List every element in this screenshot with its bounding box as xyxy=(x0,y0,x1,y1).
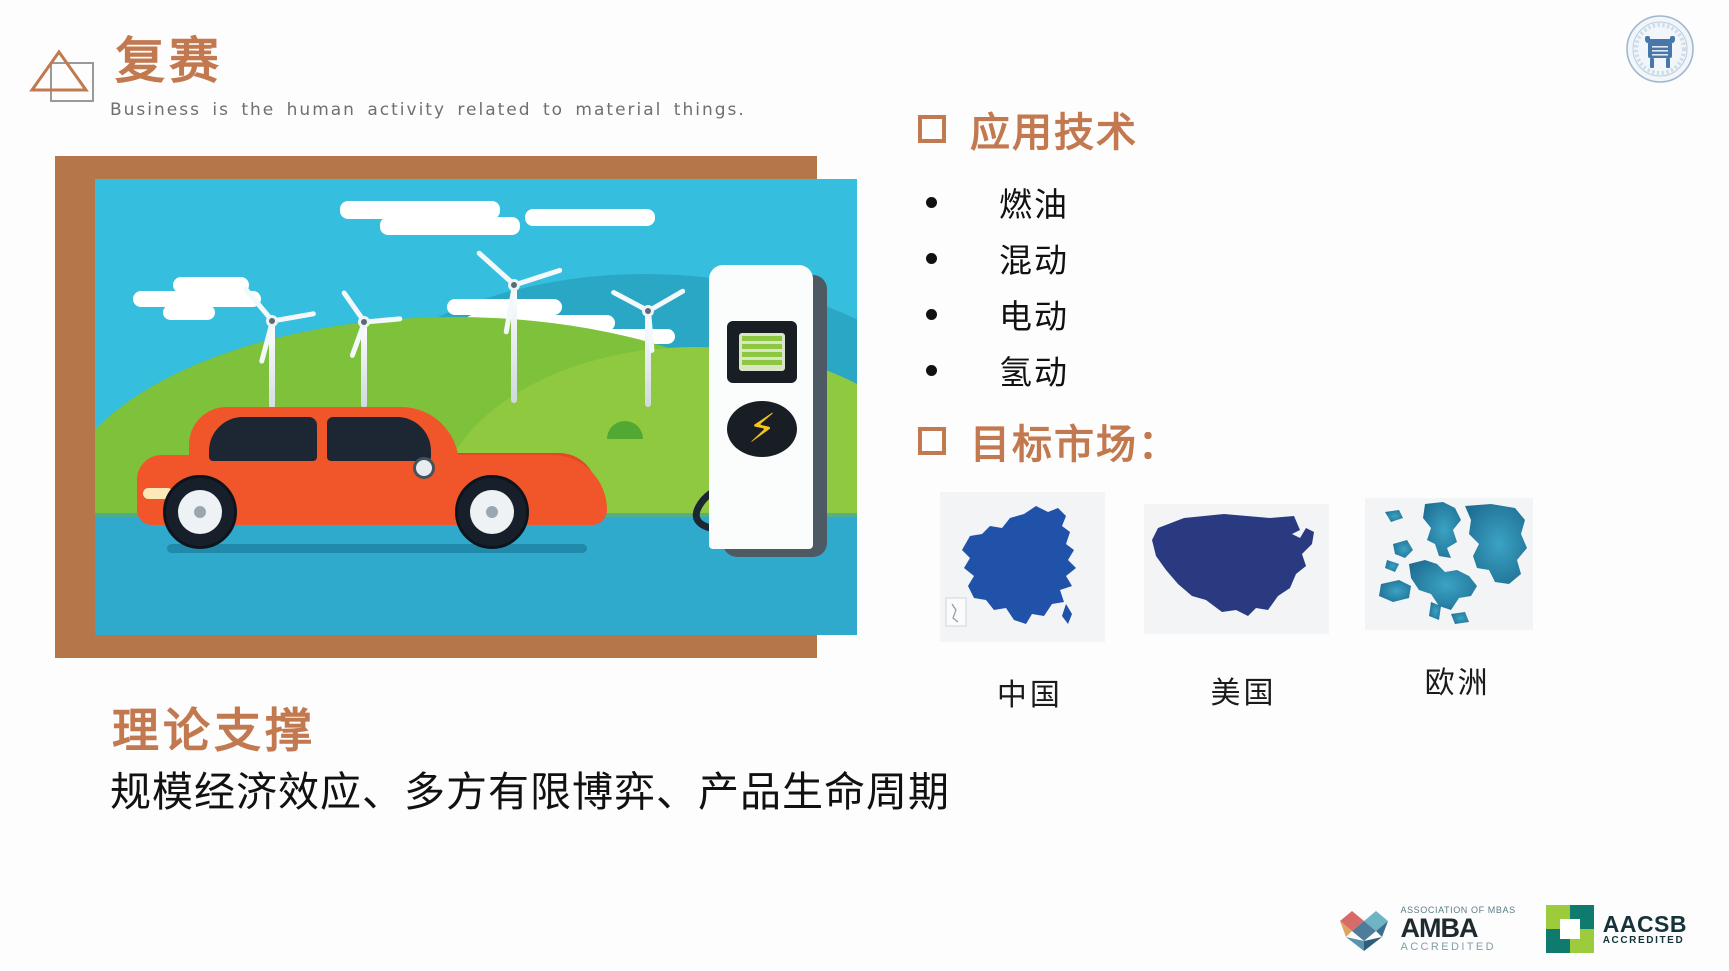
map-card-china: 中国 xyxy=(940,492,1120,712)
bullet-dot-icon xyxy=(926,253,937,264)
section-header: 目标市场： xyxy=(918,412,1180,470)
amba-diamond-icon xyxy=(1334,905,1394,953)
cloud-icon xyxy=(525,209,655,226)
wind-turbine-icon xyxy=(477,263,551,403)
map-label: 中国 xyxy=(940,670,1120,714)
theory-title: 理论支撑 xyxy=(112,692,316,761)
aacsb-text: AACSB ACCREDITED xyxy=(1603,912,1687,947)
map-label: 欧洲 xyxy=(1365,658,1550,702)
ev-charging-illustration: ⚡ xyxy=(95,179,857,635)
aacsb-square-icon xyxy=(1546,905,1594,953)
map-card-europe: 欧洲 xyxy=(1365,492,1550,712)
triangle-outline-icon xyxy=(28,48,90,94)
bullet-dot-icon xyxy=(926,197,937,208)
section-applied-technology: 应用技术 燃油 混动 电动 氢动 xyxy=(918,100,1138,398)
section-target-market: 目标市场： xyxy=(918,412,1180,470)
list-item-label: 燃油 xyxy=(999,178,1069,226)
square-outline-marker-icon xyxy=(918,427,946,455)
battery-level-icon xyxy=(739,333,785,371)
section-title: 应用技术 xyxy=(970,100,1138,158)
map-label: 美国 xyxy=(1144,668,1344,712)
electric-car-icon xyxy=(137,393,607,553)
square-outline-marker-icon xyxy=(918,115,946,143)
aacsb-logo: AACSB ACCREDITED xyxy=(1546,905,1687,953)
charging-station-icon: ⚡ xyxy=(709,265,813,555)
aacsb-name-label: AACSB xyxy=(1603,912,1687,936)
aacsb-status-label: ACCREDITED xyxy=(1603,936,1687,947)
station-screen xyxy=(727,321,797,383)
lightning-bolt-badge: ⚡ xyxy=(727,401,797,457)
list-item: 电动 xyxy=(918,286,1138,342)
cloud-icon xyxy=(380,217,520,235)
map-card-usa: 美国 xyxy=(1144,492,1344,712)
theory-body: 规模经济效应、多方有限博弈、产品生命周期 xyxy=(110,758,950,818)
amba-status-label: ACCREDITED xyxy=(1400,942,1515,953)
wind-turbine-icon xyxy=(333,300,395,405)
amba-text: ASSOCIATION OF MBAS AMBA ACCREDITED xyxy=(1400,906,1515,953)
list-item-label: 氢动 xyxy=(999,346,1069,394)
slide-root: 复赛 Business is the human activity relate… xyxy=(0,0,1729,971)
list-item: 混动 xyxy=(918,230,1138,286)
target-market-maps: 中国 美国 xyxy=(930,492,1550,712)
accreditation-logos: ASSOCIATION OF MBAS AMBA ACCREDITED AACS… xyxy=(1334,905,1687,953)
list-item-label: 电动 xyxy=(999,290,1069,338)
section-header: 应用技术 xyxy=(918,100,1138,158)
page-subtitle: Business is the human activity related t… xyxy=(110,100,746,120)
bullet-list: 燃油 混动 电动 氢动 xyxy=(918,174,1138,398)
bullet-dot-icon xyxy=(926,309,937,320)
charge-port-icon xyxy=(413,457,435,479)
list-item: 燃油 xyxy=(918,174,1138,230)
list-item: 氢动 xyxy=(918,342,1138,398)
bullet-dot-icon xyxy=(926,365,937,376)
page-title: 复赛 xyxy=(115,36,223,86)
china-map-icon xyxy=(940,492,1105,642)
section-title: 目标市场： xyxy=(970,412,1180,470)
usa-map-icon xyxy=(1144,504,1329,634)
amba-logo: ASSOCIATION OF MBAS AMBA ACCREDITED xyxy=(1334,905,1515,953)
wind-turbine-icon xyxy=(615,289,681,407)
university-seal-icon xyxy=(1623,12,1697,86)
cloud-icon xyxy=(173,277,249,293)
amba-name-label: AMBA xyxy=(1400,915,1515,942)
cloud-icon xyxy=(163,305,215,320)
header-decoration xyxy=(26,36,96,102)
europe-map-icon xyxy=(1365,498,1533,630)
list-item-label: 混动 xyxy=(999,234,1069,282)
lightning-bolt-icon: ⚡ xyxy=(748,409,776,449)
